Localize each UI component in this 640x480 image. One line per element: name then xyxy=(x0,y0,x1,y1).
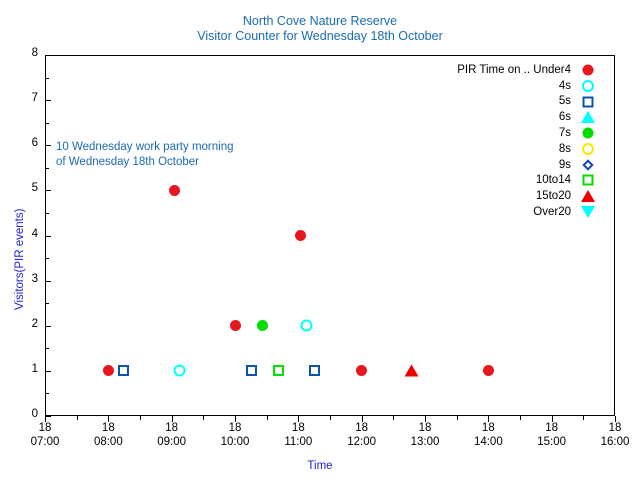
y-tick-mark xyxy=(45,145,51,146)
legend-item-label: 7s xyxy=(559,127,578,139)
legend-item-10to14[interactable]: 10to14 xyxy=(430,173,598,189)
square-open-green-icon xyxy=(273,365,284,376)
x-tick-minor xyxy=(520,416,521,420)
circle-filled-red-icon xyxy=(483,365,494,376)
x-tick-label-time: 07:00 xyxy=(15,435,75,449)
x-tick-minor xyxy=(203,416,204,420)
legend-item-label: 4s xyxy=(559,80,578,92)
y-tick-label: 8 xyxy=(0,47,38,59)
circle-open-cyan-icon xyxy=(301,320,313,332)
y-tick-label: 1 xyxy=(0,363,38,375)
y-tick-label: 4 xyxy=(0,228,38,240)
legend-item-Over20[interactable]: Over20 xyxy=(430,204,598,220)
x-tick-label: 1811:00 xyxy=(268,421,328,449)
y-tick-label: 3 xyxy=(0,273,38,285)
x-tick-label-day: 18 xyxy=(15,421,75,435)
y-tick-label: 2 xyxy=(0,318,38,330)
triangle-down-cyan-icon xyxy=(581,206,595,218)
y-tick-label: 7 xyxy=(0,92,38,104)
chart-title-line-2: Visitor Counter for Wednesday 18th Octob… xyxy=(0,29,640,44)
y-tick-mark xyxy=(45,326,51,327)
y-tick-minor xyxy=(45,303,49,304)
x-tick-label-time: 08:00 xyxy=(78,435,138,449)
circle-filled-red-icon xyxy=(230,320,241,331)
triangle-up-cyan-icon xyxy=(581,111,595,123)
circle-open-yellow-icon xyxy=(582,143,594,155)
y-tick-mark xyxy=(45,100,51,101)
x-tick-label: 1807:00 xyxy=(15,421,75,449)
legend-item-Under4[interactable]: PIR Time on .. Under4 xyxy=(430,62,598,78)
circle-filled-red-icon xyxy=(583,64,594,75)
x-axis-label: Time xyxy=(0,460,640,472)
legend-item-label: PIR Time on .. Under4 xyxy=(457,64,578,76)
x-tick-label-day: 18 xyxy=(522,421,582,435)
x-tick-label-day: 18 xyxy=(268,421,328,435)
y-tick-label: 5 xyxy=(0,182,38,194)
circle-filled-red-icon xyxy=(295,230,306,241)
x-tick-label-day: 18 xyxy=(78,421,138,435)
legend-item-marker xyxy=(578,204,598,220)
square-open-green-icon xyxy=(583,175,594,186)
circle-filled-red-icon xyxy=(103,365,114,376)
x-tick-label-day: 18 xyxy=(142,421,202,435)
x-tick-label-time: 13:00 xyxy=(395,435,455,449)
y-tick-minor xyxy=(45,168,49,169)
plot-annotation-line-2: of Wednesday 18th October xyxy=(56,155,234,170)
x-tick-label-day: 18 xyxy=(205,421,265,435)
legend-item-label: 10to14 xyxy=(536,174,578,186)
x-tick-minor xyxy=(77,416,78,420)
legend-item-label: 15to20 xyxy=(536,190,578,202)
x-tick-label: 1813:00 xyxy=(395,421,455,449)
x-tick-minor xyxy=(330,416,331,420)
circle-filled-red-icon xyxy=(356,365,367,376)
y-tick-minor xyxy=(45,213,49,214)
legend-item-marker xyxy=(578,94,598,110)
triangle-up-red-icon xyxy=(404,365,418,377)
x-tick-label-time: 10:00 xyxy=(205,435,265,449)
legend-item-marker xyxy=(578,141,598,157)
square-open-blue-icon xyxy=(583,96,594,107)
x-tick-minor xyxy=(393,416,394,420)
legend-item-label: Over20 xyxy=(533,206,578,218)
x-tick-label-day: 18 xyxy=(585,421,640,435)
x-tick-label-time: 12:00 xyxy=(332,435,392,449)
plot-annotation: 10 Wednesday work party morning of Wedne… xyxy=(56,140,234,170)
legend-item-label: 9s xyxy=(559,159,578,171)
triangle-up-red-icon xyxy=(581,190,595,202)
square-open-blue-icon xyxy=(246,365,257,376)
x-tick-label-time: 14:00 xyxy=(458,435,518,449)
x-tick-label-day: 18 xyxy=(332,421,392,435)
circle-open-cyan-icon xyxy=(173,365,185,377)
legend-item-label: 8s xyxy=(559,143,578,155)
legend-item-marker xyxy=(578,109,598,125)
legend-item-5s[interactable]: 5s xyxy=(430,94,598,110)
legend-item-marker xyxy=(578,172,598,188)
chart-canvas: North Cove Nature Reserve Visitor Counte… xyxy=(0,0,640,480)
circle-filled-green-icon xyxy=(257,320,268,331)
legend-item-6s[interactable]: 6s xyxy=(430,109,598,125)
chart-legend: PIR Time on .. Under44s5s6s7s8s9s10to141… xyxy=(430,62,598,220)
y-tick-mark xyxy=(45,190,51,191)
x-tick-label: 1808:00 xyxy=(78,421,138,449)
legend-item-15to20[interactable]: 15to20 xyxy=(430,188,598,204)
y-tick-mark xyxy=(45,281,51,282)
chart-title: North Cove Nature Reserve Visitor Counte… xyxy=(0,14,640,44)
legend-item-marker xyxy=(578,78,598,94)
plot-annotation-line-1: 10 Wednesday work party morning xyxy=(56,140,234,155)
circle-filled-red-icon xyxy=(169,185,180,196)
y-tick-label: 6 xyxy=(0,137,38,149)
legend-item-marker xyxy=(578,62,598,78)
y-tick-minor xyxy=(45,123,49,124)
diamond-open-blue-icon xyxy=(582,159,593,170)
x-tick-label: 1814:00 xyxy=(458,421,518,449)
x-tick-minor xyxy=(140,416,141,420)
legend-item-label: 5s xyxy=(559,95,578,107)
x-tick-label: 1815:00 xyxy=(522,421,582,449)
square-open-blue-icon xyxy=(309,365,320,376)
y-tick-mark xyxy=(45,236,51,237)
x-tick-label: 1816:00 xyxy=(585,421,640,449)
x-tick-minor xyxy=(583,416,584,420)
x-tick-label: 1812:00 xyxy=(332,421,392,449)
y-tick-minor xyxy=(45,348,49,349)
y-tick-minor xyxy=(45,393,49,394)
circle-filled-green-icon xyxy=(583,128,594,139)
x-tick-label-day: 18 xyxy=(458,421,518,435)
legend-item-7s[interactable]: 7s xyxy=(430,125,598,141)
square-open-blue-icon xyxy=(118,365,129,376)
x-tick-minor xyxy=(267,416,268,420)
legend-item-9s[interactable]: 9s xyxy=(430,157,598,173)
legend-item-marker xyxy=(578,125,598,141)
y-tick-minor xyxy=(45,78,49,79)
legend-item-8s[interactable]: 8s xyxy=(430,141,598,157)
x-tick-label: 1810:00 xyxy=(205,421,265,449)
legend-item-4s[interactable]: 4s xyxy=(430,78,598,94)
x-tick-label-day: 18 xyxy=(395,421,455,435)
y-tick-label: 0 xyxy=(0,408,38,420)
legend-item-label: 6s xyxy=(559,111,578,123)
y-axis-label: Visitors(PIR events) xyxy=(14,209,26,310)
y-tick-minor xyxy=(45,258,49,259)
x-tick-label-time: 11:00 xyxy=(268,435,328,449)
x-tick-minor xyxy=(457,416,458,420)
legend-item-marker xyxy=(578,188,598,204)
y-tick-mark xyxy=(45,55,51,56)
x-tick-label: 1809:00 xyxy=(142,421,202,449)
x-tick-label-time: 15:00 xyxy=(522,435,582,449)
y-tick-mark xyxy=(45,371,51,372)
legend-item-marker xyxy=(578,157,598,173)
x-tick-label-time: 16:00 xyxy=(585,435,640,449)
x-tick-label-time: 09:00 xyxy=(142,435,202,449)
circle-open-cyan-icon xyxy=(582,80,594,92)
chart-title-line-1: North Cove Nature Reserve xyxy=(0,14,640,29)
